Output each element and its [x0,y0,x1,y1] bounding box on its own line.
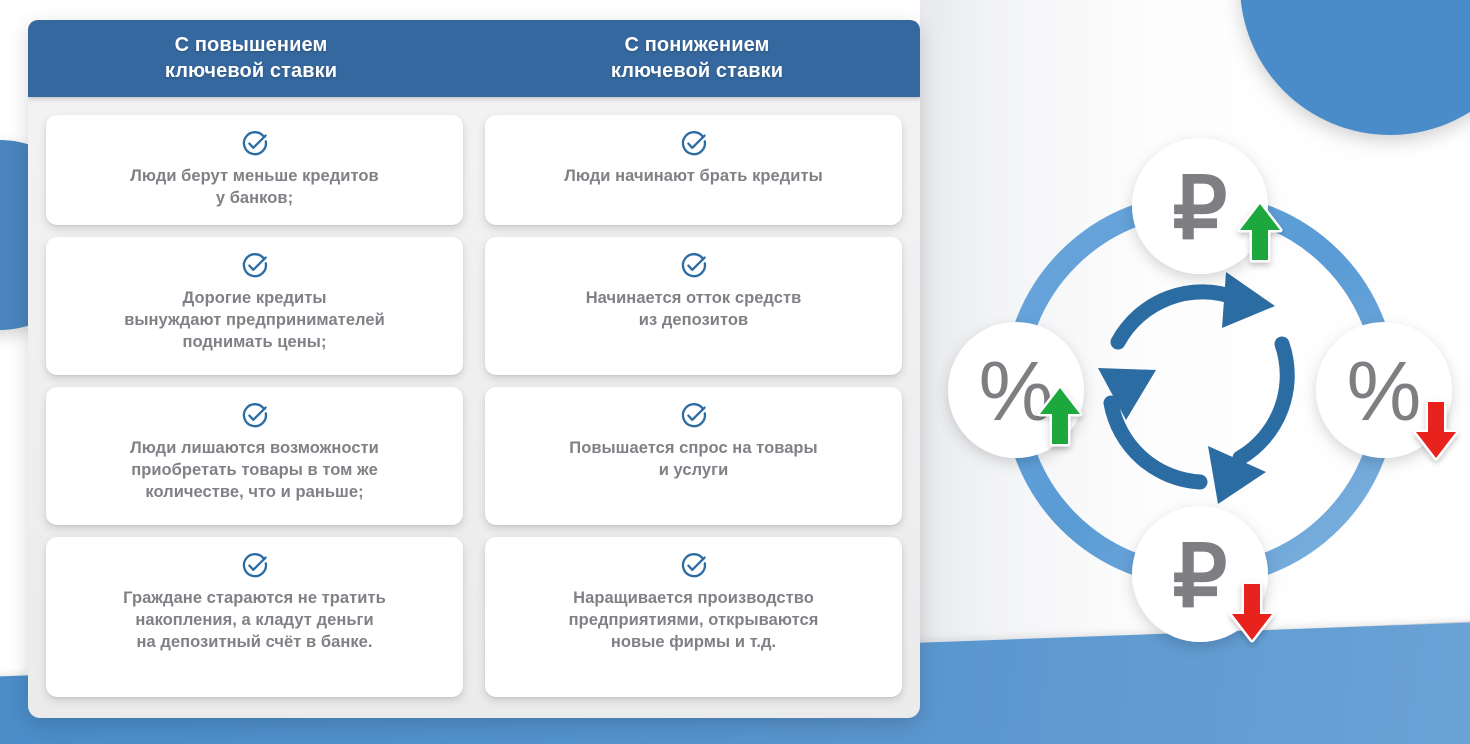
card-increase-1[interactable]: Люди берут меньше кредитов у банков; [46,115,463,225]
check-circle-icon [679,401,709,431]
card-increase-4[interactable]: Граждане стараются не тратить накопления… [46,537,463,697]
card-grid: Люди берут меньше кредитов у банков; Дор… [28,97,920,718]
inner-cycle-arrows [1098,272,1287,504]
check-circle-icon [240,401,270,431]
card-text: Наращивается производство предприятиями,… [569,588,819,654]
card-decrease-3[interactable]: Повышается спрос на товары и услуги [485,387,902,525]
header-decrease-line1: С понижением [611,33,783,59]
header-column-rate-increase: С повышением ключевой ставки [28,20,474,97]
header-increase-line1: С повышением [165,33,337,59]
comparison-panel: С повышением ключевой ставки С понижение… [28,20,920,718]
check-circle-icon [240,129,270,159]
card-text: Люди начинают брать кредиты [564,166,823,188]
ruble-symbol-bottom: ₽ [1173,529,1228,625]
card-text: Повышается спрос на товары и услуги [569,438,817,482]
check-circle-icon [240,551,270,581]
card-text: Дорогие кредиты вынуждают предпринимател… [124,288,385,354]
card-decrease-2[interactable]: Начинается отток средств из депозитов [485,237,902,375]
column-rate-decrease: Люди начинают брать кредиты Начинается о… [485,97,902,718]
header-increase-line2: ключевой ставки [165,59,337,85]
rate-cycle-diagram: ₽ % ₽ % [930,120,1470,660]
ruble-symbol-top: ₽ [1173,161,1228,257]
panel-header: С повышением ключевой ставки С понижение… [28,20,920,97]
card-text: Люди лишаются возможности приобретать то… [130,438,379,504]
card-text: Люди берут меньше кредитов у банков; [130,166,378,210]
header-column-rate-decrease: С понижением ключевой ставки [474,20,920,97]
check-circle-icon [679,129,709,159]
percent-symbol-left: % [979,344,1054,438]
card-decrease-4[interactable]: Наращивается производство предприятиями,… [485,537,902,697]
card-text: Начинается отток средств из депозитов [586,288,802,332]
card-increase-3[interactable]: Люди лишаются возможности приобретать то… [46,387,463,525]
card-increase-2[interactable]: Дорогие кредиты вынуждают предпринимател… [46,237,463,375]
percent-symbol-right: % [1347,344,1422,438]
card-text: Граждане стараются не тратить накопления… [123,588,386,654]
column-rate-increase: Люди берут меньше кредитов у банков; Дор… [46,97,463,718]
check-circle-icon [679,551,709,581]
check-circle-icon [679,251,709,281]
header-decrease-line2: ключевой ставки [611,59,783,85]
card-decrease-1[interactable]: Люди начинают брать кредиты [485,115,902,225]
check-circle-icon [240,251,270,281]
